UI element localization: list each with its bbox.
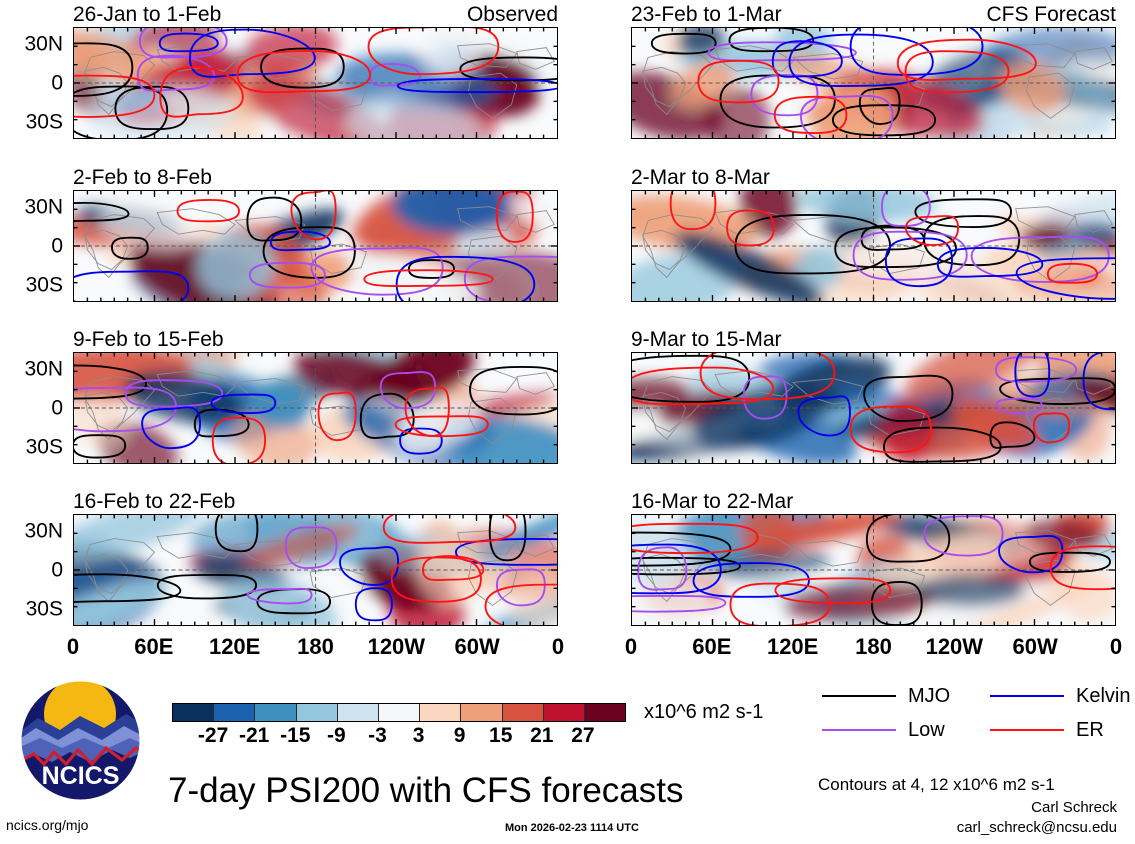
colorbar-cell-1 [214, 704, 255, 721]
colorbar-tick-2: -15 [280, 725, 310, 746]
panel-title-1: 23-Feb to 1-Mar [631, 4, 782, 25]
y-tick-30s: 30S [26, 599, 63, 620]
map-area-0[interactable] [73, 27, 558, 139]
x-tick-60w: 60W [455, 636, 500, 658]
y-tick-30s: 30S [26, 437, 63, 458]
colorbar-units-label: x10^6 m2 s-1 [644, 702, 763, 722]
map-area-3[interactable] [631, 190, 1116, 302]
er-line-swatch [990, 729, 1064, 731]
map-render-4 [74, 353, 557, 463]
y-tick-30n: 30N [24, 34, 63, 55]
x-axis-left: 0 60E 120E 180 120W 60W 0 [73, 636, 558, 666]
y-tick-0: 0 [51, 398, 63, 419]
y-tick-30n: 30N [24, 521, 63, 542]
x-tick-180: 180 [297, 636, 334, 658]
ncics-logo-label: NCICS [42, 762, 120, 790]
y-axis-labels-row-0: 30N 0 30S [0, 27, 71, 139]
colorbar-tick-0: -27 [198, 725, 228, 746]
map-render-2 [74, 191, 557, 301]
map-area-6[interactable] [73, 514, 558, 626]
panel-6: 16-Feb to 22-Feb [73, 514, 558, 626]
x-tick-60e: 60E [134, 636, 173, 658]
x-tick-0: 0 [67, 636, 79, 658]
colorbar-cell-2 [255, 704, 296, 721]
colorbar-cell-6 [420, 704, 461, 721]
panel-title-0: 26-Jan to 1-Feb [73, 4, 221, 25]
panel-grid: 30N 0 30S 30N 0 30S 30N 0 30S 30N 0 30S … [0, 0, 1135, 625]
map-render-7 [632, 515, 1115, 625]
map-area-4[interactable] [73, 352, 558, 464]
colorbar-tick-5: 3 [413, 725, 425, 746]
panel-title-2: 2-Feb to 8-Feb [73, 167, 212, 188]
panel-1: 23-Feb to 1-MarCFS Forecast [631, 27, 1116, 139]
x-tick-120e: 120E [767, 636, 818, 658]
ncics-logo: NCICS [18, 678, 143, 803]
colorbar-tick-7: 15 [489, 725, 512, 746]
map-area-1[interactable] [631, 27, 1116, 139]
contour-legend: MJO Kelvin x2 Low ER [822, 686, 1135, 746]
legend-item-low[interactable]: Low [822, 720, 945, 740]
legend-item-kelvin[interactable]: Kelvin x2 [990, 686, 1135, 706]
colorbar-tick-6: 9 [454, 725, 466, 746]
legend-item-mjo[interactable]: MJO [822, 686, 950, 706]
y-tick-30s: 30S [26, 112, 63, 133]
x-tick-120e: 120E [209, 636, 260, 658]
figure-timestamp: Mon 2026-02-23 1114 UTC [505, 822, 639, 834]
legend-item-er[interactable]: ER [990, 720, 1104, 740]
map-area-5[interactable] [631, 352, 1116, 464]
panel-0: 26-Jan to 1-FebObserved [73, 27, 558, 139]
map-render-1 [632, 28, 1115, 138]
colorbar-cell-9 [544, 704, 585, 721]
colorbar-cell-8 [503, 704, 544, 721]
x-tick-360: 0 [1110, 636, 1122, 658]
panel-3: 2-Mar to 8-Mar [631, 190, 1116, 302]
y-tick-30s: 30S [26, 275, 63, 296]
x-tick-180: 180 [855, 636, 892, 658]
panel-4: 9-Feb to 15-Feb [73, 352, 558, 464]
y-tick-30n: 30N [24, 359, 63, 380]
y-tick-0: 0 [51, 73, 63, 94]
colorbar-cell-0 [173, 704, 214, 721]
colorbar-cell-10 [585, 704, 625, 721]
legend-label-low: Low [908, 720, 945, 740]
y-tick-0: 0 [51, 236, 63, 257]
panel-5: 9-Mar to 15-Mar [631, 352, 1116, 464]
colorbar-cell-5 [379, 704, 420, 721]
x-tick-120w: 120W [368, 636, 425, 658]
map-area-2[interactable] [73, 190, 558, 302]
author-name: Carl Schreck [1031, 799, 1117, 816]
colorbar-strip [172, 703, 626, 722]
x-tick-60e: 60E [692, 636, 731, 658]
panel-title-7: 16-Mar to 22-Mar [631, 491, 793, 512]
ncics-logo-graphic: NCICS [18, 678, 143, 803]
kelvin-line-swatch [990, 695, 1064, 697]
x-tick-360: 0 [552, 636, 564, 658]
x-axis-right: 0 60E 120E 180 120W 60W 0 [631, 636, 1116, 666]
author-email[interactable]: carl_schreck@ncsu.edu [957, 819, 1117, 836]
map-render-5 [632, 353, 1115, 463]
colorbar-tick-1: -21 [239, 725, 269, 746]
panel-title-3: 2-Mar to 8-Mar [631, 167, 770, 188]
site-url[interactable]: ncics.org/mjo [6, 818, 88, 833]
map-render-6 [74, 515, 557, 625]
panel-corner-label-0: Observed [467, 4, 558, 25]
y-tick-30n: 30N [24, 197, 63, 218]
panel-7: 16-Mar to 22-Mar [631, 514, 1116, 626]
map-render-0 [74, 28, 557, 138]
panel-title-4: 9-Feb to 15-Feb [73, 329, 224, 350]
y-axis-labels-row-3: 30N 0 30S [0, 514, 71, 626]
colorbar-cell-7 [461, 704, 502, 721]
y-tick-0: 0 [51, 560, 63, 581]
x-tick-120w: 120W [926, 636, 983, 658]
colorbar-tick-8: 21 [530, 725, 553, 746]
y-axis-labels-row-1: 30N 0 30S [0, 190, 71, 302]
contours-note: Contours at 4, 12 x10^6 m2 s-1 [818, 775, 1055, 794]
y-axis-labels-row-2: 30N 0 30S [0, 352, 71, 464]
panel-title-6: 16-Feb to 22-Feb [73, 491, 235, 512]
x-tick-60w: 60W [1013, 636, 1058, 658]
map-area-7[interactable] [631, 514, 1116, 626]
panel-corner-label-1: CFS Forecast [986, 4, 1116, 25]
colorbar-tick-9: 27 [571, 725, 594, 746]
colorbar-tick-4: -3 [368, 725, 387, 746]
map-render-3 [632, 191, 1115, 301]
legend-label-kelvin: Kelvin x2 [1076, 686, 1135, 706]
mjo-line-swatch [822, 695, 896, 697]
figure-title: 7-day PSI200 with CFS forecasts [168, 772, 684, 810]
legend-label-mjo: MJO [908, 686, 950, 706]
low-line-swatch [822, 729, 896, 731]
colorbar-cell-3 [297, 704, 338, 721]
panel-2: 2-Feb to 8-Feb [73, 190, 558, 302]
colorbar-tick-3: -9 [327, 725, 346, 746]
panel-title-5: 9-Mar to 15-Mar [631, 329, 782, 350]
x-tick-0: 0 [625, 636, 637, 658]
colorbar-cell-4 [338, 704, 379, 721]
legend-label-er: ER [1076, 720, 1104, 740]
